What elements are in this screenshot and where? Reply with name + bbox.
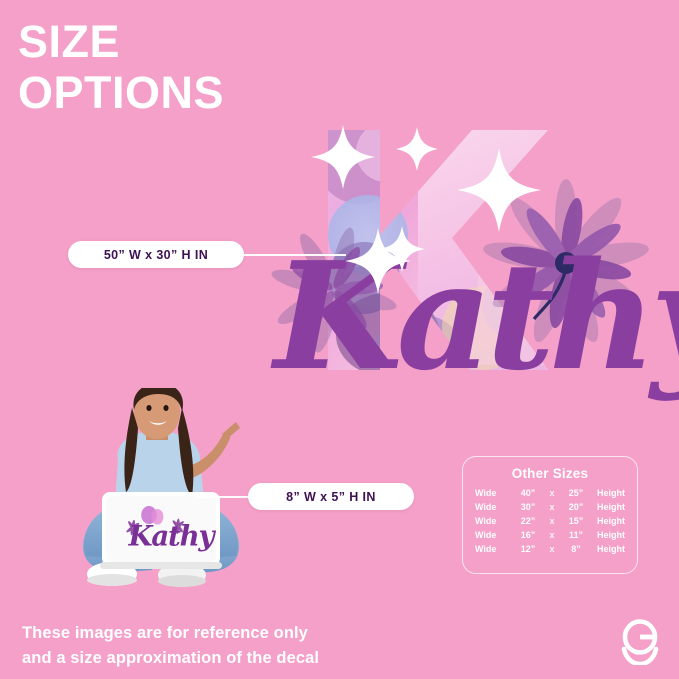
- cell-height-label: Height: [591, 528, 637, 542]
- cell-height-label: Height: [591, 514, 637, 528]
- table-row: Wide 40” x 25” Height: [463, 486, 637, 500]
- disclaimer-text: These images are for reference only and …: [22, 621, 319, 671]
- decal-artwork-large: Kathy: [268, 100, 679, 420]
- leader-line-large: [236, 254, 346, 256]
- cell-wide-label: Wide: [463, 528, 513, 542]
- small-size-callout: 8” W x 5” H IN: [248, 483, 414, 510]
- table-row: Wide 30” x 20” Height: [463, 500, 637, 514]
- cell-height: 20”: [561, 500, 591, 514]
- g-logo: [618, 619, 662, 665]
- cell-height: 15”: [561, 514, 591, 528]
- cell-x: x: [543, 486, 561, 500]
- cell-x: x: [543, 528, 561, 542]
- page-title: SIZE OPTIONS: [18, 16, 224, 118]
- cell-wide-label: Wide: [463, 542, 513, 556]
- cell-width: 16”: [513, 528, 543, 542]
- cell-height: 11”: [561, 528, 591, 542]
- table-row: Wide 16” x 11” Height: [463, 528, 637, 542]
- cell-x: x: [543, 500, 561, 514]
- cell-wide-label: Wide: [463, 486, 513, 500]
- other-sizes-box: Other Sizes Wide 40” x 25” Height Wide 3…: [462, 456, 638, 574]
- table-row: Wide 22” x 15” Height: [463, 514, 637, 528]
- other-sizes-title: Other Sizes: [463, 466, 637, 481]
- sparkle-star-icon: [396, 127, 438, 171]
- cell-wide-label: Wide: [463, 514, 513, 528]
- cell-width: 30”: [513, 500, 543, 514]
- cell-width: 12”: [513, 542, 543, 556]
- cell-height: 25”: [561, 486, 591, 500]
- cell-height-label: Height: [591, 542, 637, 556]
- leader-line-small: [196, 496, 256, 498]
- cell-height-label: Height: [591, 486, 637, 500]
- cell-height: 8”: [561, 542, 591, 556]
- cell-width: 40”: [513, 486, 543, 500]
- cell-height-label: Height: [591, 500, 637, 514]
- cell-x: x: [543, 514, 561, 528]
- person-with-laptop-photo: Kathy: [56, 388, 266, 588]
- size-options-graphic: SIZE OPTIONS: [0, 0, 679, 679]
- table-row: Wide 12” x 8” Height: [463, 542, 637, 556]
- large-size-callout: 50” W x 30” H IN: [68, 241, 244, 268]
- cell-width: 22”: [513, 514, 543, 528]
- cell-x: x: [543, 542, 561, 556]
- cell-wide-label: Wide: [463, 500, 513, 514]
- other-sizes-table: Wide 40” x 25” Height Wide 30” x 20” Hei…: [463, 486, 637, 556]
- svg-text:Kathy: Kathy: [128, 520, 217, 553]
